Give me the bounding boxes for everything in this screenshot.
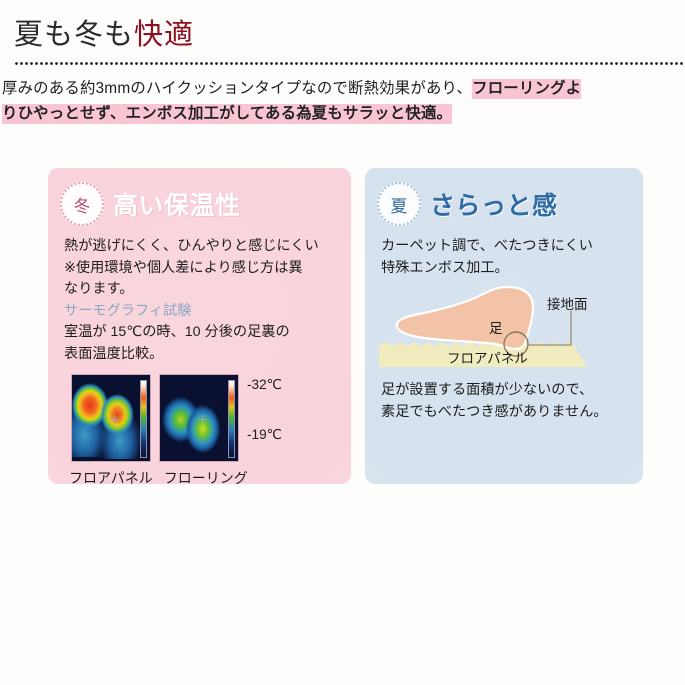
thermography-row: -32℃ -19℃ <box>48 365 351 462</box>
panel-winter-body: 熱が逃げにくく、ひんやりと感じにくい ※使用環境や個人差により感じ方は異 なりま… <box>48 226 351 365</box>
thermography-captions: フロアパネル フローリング <box>48 462 351 488</box>
thermal-caption-flooring: フローリング <box>164 468 248 488</box>
season-badge-winter: 冬 <box>60 182 104 226</box>
winter-body2-line-1: 室温が 15℃の時、10 分後の足裏の <box>64 322 337 344</box>
contact-leader-line <box>528 311 571 345</box>
lead-line2-highlight: りひやっとせず、エンボス加工がしてある為夏もサラッと快適。 <box>2 104 452 124</box>
panel-summer-heading: さらっと感 <box>430 186 558 222</box>
thermal-image-flooring <box>159 374 239 462</box>
winter-sub-label: サーモグラフィ試験 <box>64 301 337 323</box>
temperature-scale: -32℃ -19℃ <box>247 374 282 441</box>
thermal-colorbar <box>228 380 235 458</box>
winter-body-line-2: ※使用環境や個人差により感じ方は異 <box>64 258 337 280</box>
foot-shape <box>397 287 533 349</box>
foot-label: 足 <box>489 317 503 337</box>
temperature-scale-low: -19℃ <box>247 428 282 442</box>
panel-summer-body2: 足が設置する面積が少ないので、 素足でもべたつき感がありません。 <box>365 371 643 423</box>
winter-body2-line-2: 表面温度比較。 <box>64 344 337 366</box>
summer-body-line-1: カーペット調で、べたつきにくい <box>381 236 629 258</box>
panel-winter: 冬 高い保温性 熱が逃げにくく、ひんやりと感じにくい ※使用環境や個人差により感… <box>48 168 351 484</box>
thermal-crosshair-icon <box>110 415 119 424</box>
winter-body-line-3: なります。 <box>64 279 337 301</box>
thermal-image-floor-panel <box>71 374 151 462</box>
page-title: 夏も冬も快適 <box>14 18 685 53</box>
contact-surface-label: 接地面 <box>547 293 588 313</box>
lead-paragraph: 厚みのある約3mmのハイクッションタイプなので断熱効果があり、フローリングよ り… <box>2 77 685 127</box>
thermal-colorbar <box>140 380 147 458</box>
panel-summer: 夏 さらっと感 カーペット調で、べたつきにくい 特殊エンボス加工。 足 フロアパ… <box>365 168 643 484</box>
season-badge-winter-label: 冬 <box>74 192 91 217</box>
panel-winter-header: 冬 高い保温性 <box>48 168 351 226</box>
season-badge-summer-label: 夏 <box>391 192 408 217</box>
floor-panel-label: フロアパネル <box>447 347 528 367</box>
lead-line1-plain: 厚みのある約3mmのハイクッションタイプなので断熱効果があり、 <box>2 80 472 97</box>
temperature-scale-high: -32℃ <box>247 378 282 392</box>
panel-summer-body: カーペット調で、べたつきにくい 特殊エンボス加工。 <box>365 226 643 279</box>
summer-body2-line-1: 足が設置する面積が少ないので、 <box>381 380 629 402</box>
lead-line1-highlight: フローリングよ <box>472 79 581 99</box>
panel-winter-heading: 高い保温性 <box>113 186 241 222</box>
page-title-plain: 夏も冬も <box>14 19 134 51</box>
summer-body2-line-2: 素足でもべたつき感がありません。 <box>381 402 629 424</box>
title-block: 夏も冬も快適 <box>0 0 685 65</box>
page-title-accent: 快適 <box>134 19 194 51</box>
season-badge-summer: 夏 <box>377 182 421 226</box>
foot-contact-diagram: 足 フロアパネル 接地面 <box>375 285 633 371</box>
summer-body-line-2: 特殊エンボス加工。 <box>381 258 629 280</box>
panel-summer-header: 夏 さらっと感 <box>365 168 643 226</box>
feature-panels: 冬 高い保温性 熱が逃げにくく、ひんやりと感じにくい ※使用環境や個人差により感… <box>0 168 685 488</box>
winter-body-line-1: 熱が逃げにくく、ひんやりと感じにくい <box>64 236 337 258</box>
thermal-caption-floor-panel: フロアパネル <box>69 468 153 488</box>
thermal-crosshair-icon <box>198 415 207 424</box>
title-divider <box>14 62 685 65</box>
